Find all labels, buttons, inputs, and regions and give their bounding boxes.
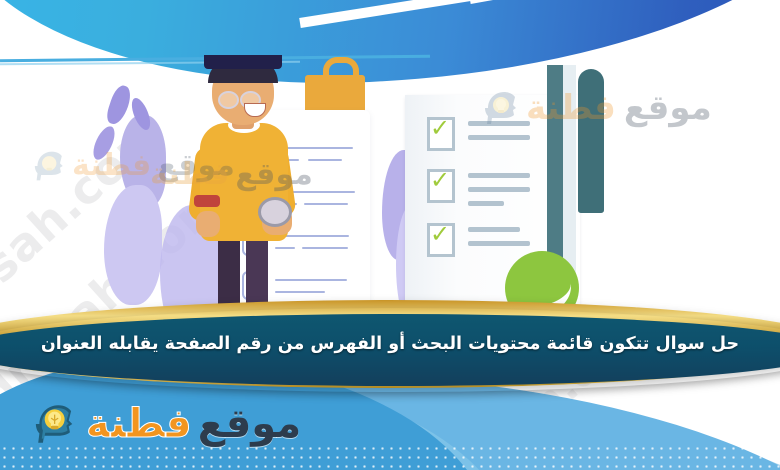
poster-canvas: drasah.com drasah.com drasah.com drasah.… <box>0 0 780 470</box>
board-line <box>468 173 530 178</box>
page-title: حل سوال تتكون قائمة محتويات البحث أو الف… <box>0 308 780 380</box>
head-brain-lightbulb-icon <box>30 148 72 184</box>
logo-word-mawqi: موقع <box>198 404 301 444</box>
watermark-word-mawqi: موقع <box>624 91 712 125</box>
character-hand-left <box>196 211 220 237</box>
watermark-word-fatina: فطنة <box>526 91 616 125</box>
check-green-icon: ✓ <box>430 117 450 139</box>
head-brain-lightbulb-icon <box>480 88 526 128</box>
checklist-line <box>275 291 325 293</box>
wristwatch-icon <box>258 197 292 227</box>
character-wristband <box>194 195 220 207</box>
board-line <box>468 135 530 140</box>
decor-blob-2 <box>104 185 162 305</box>
watermark-top-right: موقع فطنة <box>480 88 712 128</box>
checklist-line <box>302 247 348 249</box>
head-brain-lightbulb-icon <box>30 400 84 448</box>
watermark-middle: موقع فطنة <box>150 160 313 190</box>
board-line <box>468 227 520 232</box>
watermark-word-fatina: فطنة <box>72 151 151 181</box>
board-line <box>468 187 530 192</box>
checklist-line <box>275 279 347 281</box>
checklist-line <box>304 203 348 205</box>
site-logo[interactable]: موقع فطنة <box>30 400 301 448</box>
board-line <box>468 241 530 246</box>
graduation-cap-icon <box>204 55 282 69</box>
watermark-word-mawqi: موقع <box>235 160 313 190</box>
watermark-word-fatina: فطنة <box>150 160 229 190</box>
checklist-line <box>275 247 295 249</box>
check-green-icon: ✓ <box>430 223 450 245</box>
checklist-line <box>308 159 342 161</box>
glasses-left-icon <box>218 91 239 109</box>
check-green-icon: ✓ <box>430 169 450 191</box>
logo-word-fatina: فطنة <box>86 404 192 444</box>
board-line <box>468 201 504 206</box>
